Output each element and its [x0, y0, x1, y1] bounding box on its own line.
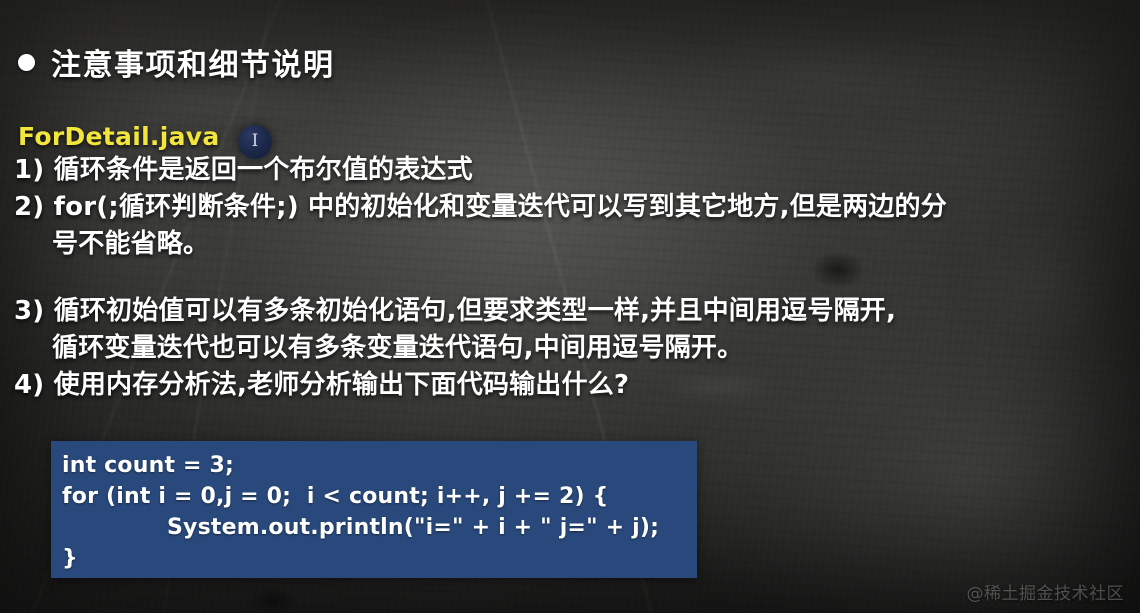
- watermark-label: @稀土掘金技术社区: [967, 579, 1125, 604]
- code-line-2: for (int i = 0,j = 0; i < count; i++, j …: [62, 481, 697, 512]
- code-line-1: int count = 3;: [62, 450, 697, 481]
- filename-label: ForDetail.java: [18, 122, 220, 151]
- bullet-point-3-continued: 循环变量迭代也可以有多条变量迭代语句,中间用逗号隔开。: [14, 330, 1134, 367]
- ibeam-glyph: I: [252, 133, 259, 150]
- slide-canvas: 注意事项和细节说明 ForDetail.java I 1) 循环条件是返回一个布…: [0, 0, 1140, 613]
- filled-circle-bullet-icon: [18, 54, 35, 71]
- slide-content: 注意事项和细节说明 ForDetail.java I 1) 循环条件是返回一个布…: [0, 0, 1140, 613]
- bullet-point-4: 4) 使用内存分析法,老师分析输出下面代码输出什么?: [14, 367, 1134, 404]
- bullet-point-3: 3) 循环初始值可以有多条初始化语句,但要求类型一样,并且中间用逗号隔开,: [14, 293, 1134, 330]
- list-spacer: [14, 263, 1134, 293]
- heading-text: 注意事项和细节说明: [51, 40, 335, 84]
- bullet-point-2-continued: 号不能省略。: [14, 226, 1134, 263]
- code-line-4: }: [62, 543, 697, 574]
- code-block: int count = 3; for (int i = 0,j = 0; i <…: [51, 441, 697, 578]
- bullet-point-2: 2) for(;循环判断条件;) 中的初始化和变量迭代可以写到其它地方,但是两边…: [14, 189, 1134, 226]
- bullet-point-1: 1) 循环条件是返回一个布尔值的表达式: [14, 152, 1134, 189]
- bullet-list: 1) 循环条件是返回一个布尔值的表达式 2) for(;循环判断条件;) 中的初…: [14, 152, 1134, 404]
- code-line-3: System.out.println("i=" + i + " j=" + j)…: [62, 512, 697, 543]
- slide-heading: 注意事项和细节说明: [18, 40, 335, 84]
